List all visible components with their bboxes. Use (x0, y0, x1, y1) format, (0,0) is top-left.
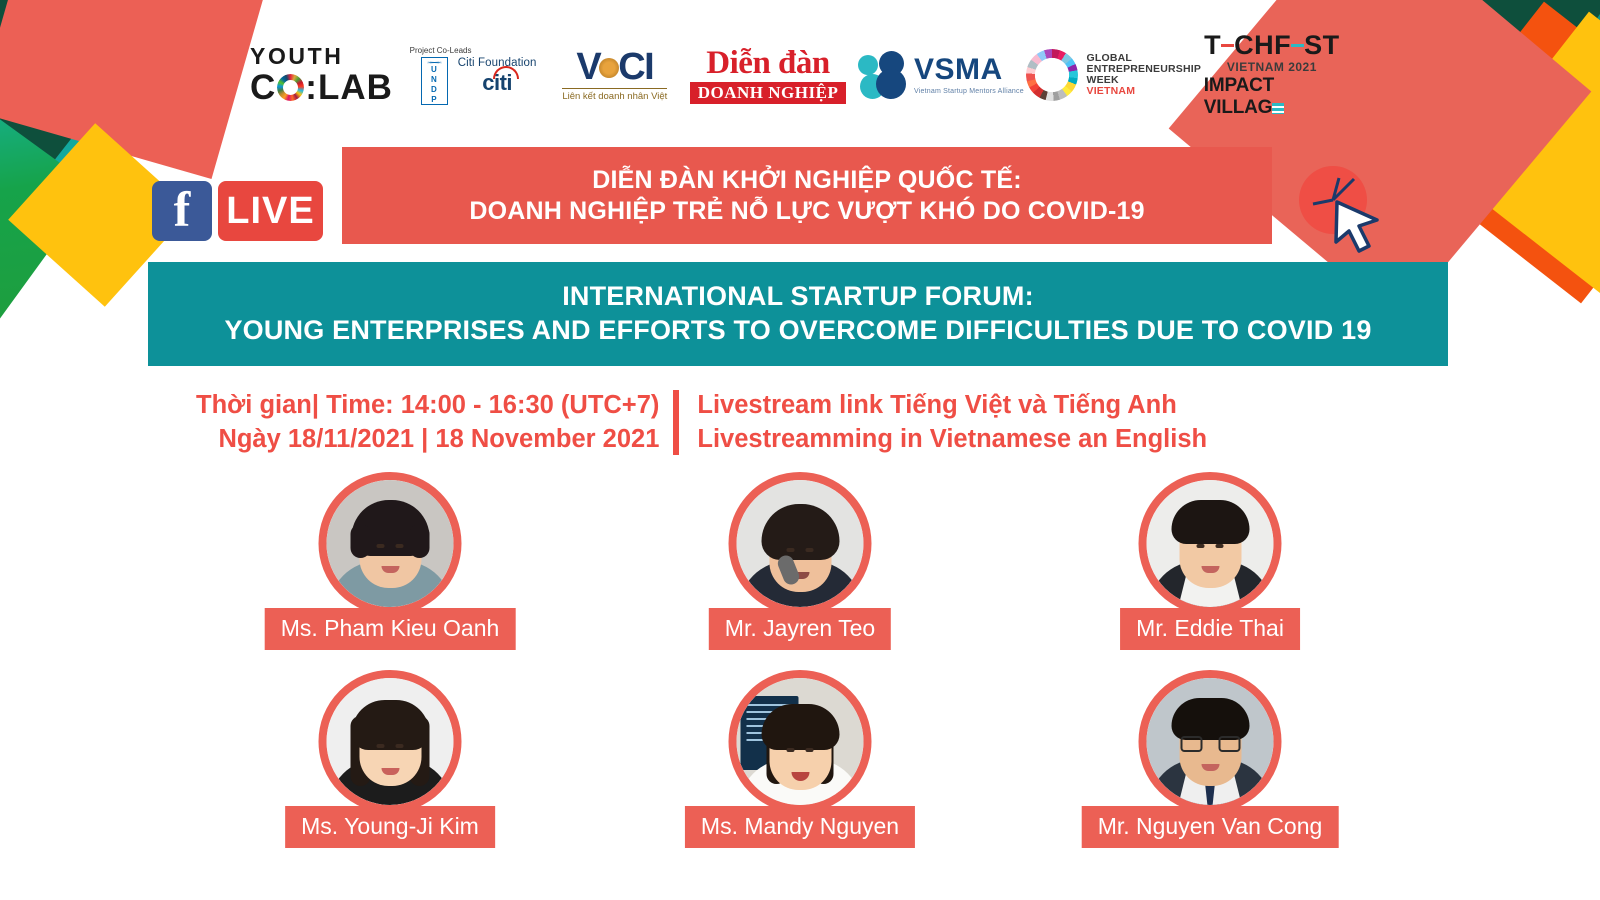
facebook-icon[interactable]: f (152, 181, 212, 241)
undp-letter-u: U (431, 66, 437, 74)
speaker-name-plate: Mr. Eddie Thai (1120, 608, 1300, 650)
livestream-line-en: Livestreamming in Vietnamese an English (697, 422, 1207, 456)
title-en-line-2: YOUNG ENTERPRISES AND EFFORTS TO OVERCOM… (224, 314, 1371, 348)
techfest-accent-bar-teal (1291, 44, 1304, 47)
undp-globe-icon (427, 61, 442, 64)
sponsor-logo-strip: YOUTH C : LAB Project Co-Leads U N D P C… (250, 34, 1340, 116)
speaker-avatar (1139, 472, 1282, 615)
youth-colab-colon: : (305, 70, 318, 105)
youth-colab-logo: YOUTH C : LAB (250, 45, 406, 105)
decor-shape-top-right-yellow (1457, 12, 1600, 314)
speaker-card[interactable]: Ms. Pham Kieu Oanh (265, 472, 515, 650)
title-vn-line-1: DIỄN ĐÀN KHỞI NGHIỆP QUỐC TẾ: (592, 165, 1021, 196)
techfest-logo: TCHFST VIETNAM 2021 IMPACT VILLAG (1204, 32, 1340, 119)
citi-foundation-label: Citi Foundation (458, 57, 537, 69)
vsma-logo: VSMA Vietnam Startup Mentors Alliance (858, 51, 1024, 99)
youth-colab-top-text: YOUTH (250, 45, 344, 68)
speakers-row-2: Ms. Young-Ji Kim (0, 670, 1600, 848)
speaker-card[interactable]: Ms. Mandy Nguyen (675, 670, 925, 848)
vsma-tagline: Vietnam Startup Mentors Alliance (914, 88, 1024, 95)
vsma-wordmark: VSMA (914, 55, 1024, 85)
vcci-tagline: Liên kết doanh nhân Việt (562, 88, 667, 102)
youth-colab-c: C (250, 70, 276, 105)
undp-logo: U N D P (421, 57, 448, 105)
decor-shape-top-right-orange (1412, 2, 1600, 304)
techfest-accent-bar-stripes (1272, 103, 1284, 114)
sdg-color-wheel-icon (277, 74, 304, 101)
speaker-avatar (319, 472, 462, 615)
decor-shape-top-left-emerald (0, 85, 95, 329)
title-vn-line-2: DOANH NGHIỆP TRẺ NỖ LỰC VƯỢT KHÓ DO COVI… (469, 196, 1144, 227)
title-banner-english: INTERNATIONAL STARTUP FORUM: YOUNG ENTER… (148, 262, 1448, 366)
decor-shape-top-left-coral (0, 0, 279, 179)
speaker-name-plate: Ms. Young-Ji Kim (285, 806, 495, 848)
livestream-info-block: Livestream link Tiếng Việt và Tiếng Anh … (679, 388, 1207, 457)
citi-foundation-logo: Citi Foundation citi (458, 57, 537, 95)
title-en-line-1: INTERNATIONAL STARTUP FORUM: (562, 280, 1034, 314)
speaker-card[interactable]: Mr. Nguyen Van Cong (1085, 670, 1335, 848)
youth-colab-lab: LAB (318, 70, 393, 105)
speaker-avatar (319, 670, 462, 813)
event-time-block: Thời gian| Time: 14:00 - 16:30 (UTC+7) N… (196, 388, 673, 457)
speaker-name-plate: Ms. Pham Kieu Oanh (265, 608, 516, 650)
speaker-name-plate: Mr. Jayren Teo (709, 608, 891, 650)
speaker-card[interactable]: Mr. Jayren Teo (675, 472, 925, 650)
project-co-leads-label: Project Co-Leads (410, 46, 472, 55)
speaker-avatar (729, 670, 872, 813)
techfest-wordmark: TCHFST (1204, 32, 1340, 59)
speakers-row-1: Ms. Pham Kieu Oanh M (0, 472, 1600, 650)
speakers-section: Ms. Pham Kieu Oanh M (0, 472, 1600, 848)
vsma-people-icon (858, 51, 906, 99)
dien-dan-doanh-nghiep-logo: Diễn đàn DOANH NGHIỆP (678, 47, 858, 104)
decor-shape-top-left-green (0, 0, 165, 195)
dien-dan-title: Diễn đàn (706, 47, 829, 80)
title-banner-vietnamese: DIỄN ĐÀN KHỞI NGHIỆP QUỐC TẾ: DOANH NGHI… (342, 147, 1272, 244)
techfest-year: VIETNAM 2021 (1227, 60, 1317, 74)
vcci-logo: VCI Liên kết doanh nhân Việt (552, 48, 678, 102)
decor-shape-top-left-teal (0, 0, 177, 207)
undp-letter-d: D (431, 86, 437, 94)
gew-line-4: VIETNAM (1086, 86, 1201, 97)
livestream-line-vn: Livestream link Tiếng Việt và Tiếng Anh (697, 388, 1176, 422)
global-entrepreneurship-week-logo: GLOBAL ENTREPRENEURSHIP WEEK VIETNAM (1024, 49, 1204, 101)
speaker-card[interactable]: Mr. Eddie Thai (1085, 472, 1335, 650)
speaker-name-plate: Ms. Mandy Nguyen (685, 806, 915, 848)
facebook-live-badge[interactable]: f LIVE (152, 181, 323, 241)
live-label: LIVE (218, 181, 323, 241)
speaker-avatar (1139, 670, 1282, 813)
event-info-row: Thời gian| Time: 14:00 - 16:30 (UTC+7) N… (196, 388, 1207, 457)
undp-letter-p: P (431, 96, 437, 104)
cursor-click-icon (1291, 158, 1401, 258)
speaker-name-plate: Mr. Nguyen Van Cong (1082, 806, 1339, 848)
event-poster: YOUTH C : LAB Project Co-Leads U N D P C… (0, 0, 1600, 900)
event-time-line: Thời gian| Time: 14:00 - 16:30 (UTC+7) (196, 388, 659, 422)
doanh-nghiep-subtitle: DOANH NGHIỆP (690, 82, 847, 104)
techfest-village: IMPACT VILLAG (1204, 75, 1340, 119)
event-date-line: Ngày 18/11/2021 | 18 November 2021 (218, 422, 659, 456)
undp-letter-n: N (431, 76, 437, 84)
project-co-leads-logo: Project Co-Leads U N D P Citi Foundation… (406, 46, 552, 105)
vcci-sun-icon (599, 58, 619, 78)
techfest-accent-bar-red (1221, 44, 1234, 47)
speaker-card[interactable]: Ms. Young-Ji Kim (265, 670, 515, 848)
speaker-avatar (729, 472, 872, 615)
vcci-wordmark: VCI (576, 48, 653, 86)
youth-colab-bottom-text: C : LAB (250, 70, 393, 105)
gew-color-ring-icon (1026, 49, 1078, 101)
click-cursor-badge (1291, 158, 1401, 258)
